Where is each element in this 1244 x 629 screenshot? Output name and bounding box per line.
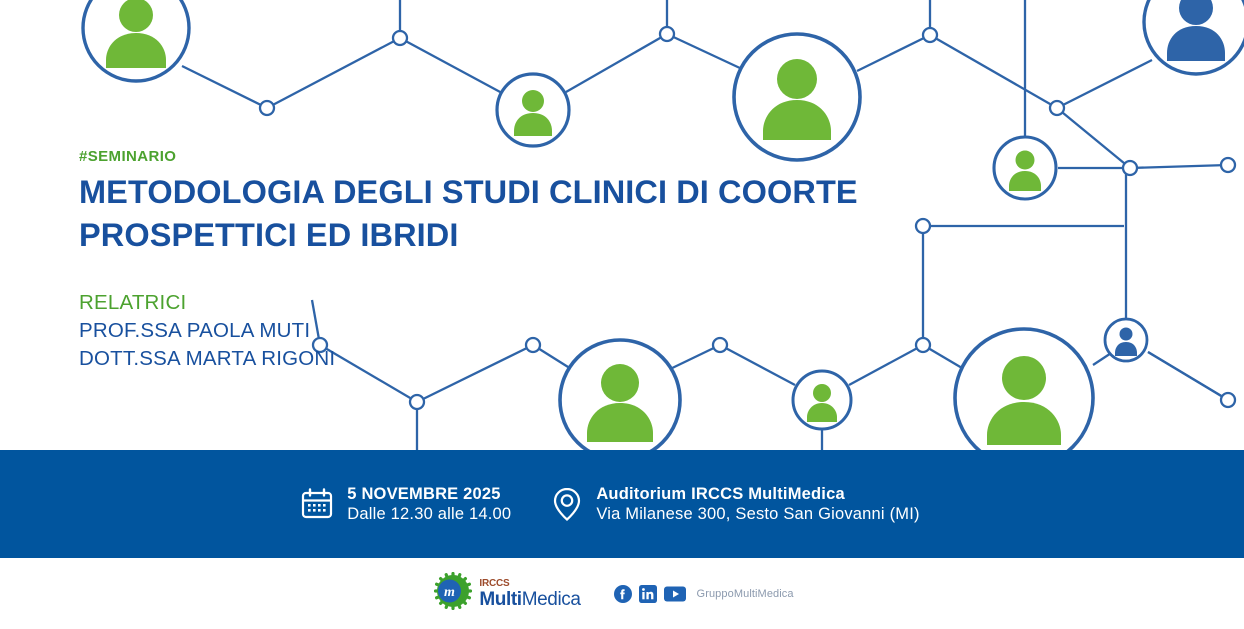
avatar-node-blue [1105,319,1147,361]
speakers-label: RELATRICI [79,289,979,317]
event-date-item: 5 NOVEMBRE 2025 Dalle 12.30 alle 14.00 [300,484,511,524]
event-location-text: Auditorium IRCCS MultiMedica Via Milanes… [596,484,919,524]
svg-text:m: m [444,585,455,600]
multimedica-logo-mark: m [434,572,472,615]
network-node [260,101,274,115]
calendar-icon [300,487,334,521]
poster-text-block: #SEMINARIO METODOLOGIA DEGLI STUDI CLINI… [79,148,979,374]
hashtag-label: #SEMINARIO [79,148,979,165]
title-line-1: METODOLOGIA DEGLI STUDI CLINICI DI COORT… [79,174,858,210]
event-location-primary: Auditorium IRCCS MultiMedica [596,484,919,504]
event-date-text: 5 NOVEMBRE 2025 Dalle 12.30 alle 14.00 [347,484,511,524]
avatar-node-green [497,74,569,146]
social-handle: GruppoMultiMedica [697,588,794,600]
speaker-name: PROF.SSA PAOLA MUTI [79,317,979,345]
logo-brand-name-bold: Multi [479,589,521,610]
title-line-2: PROSPETTICI ED IBRIDI [79,217,459,253]
avatar-node-green [734,34,860,160]
multimedica-logo: m IRCCS MultiMedica [434,572,580,615]
facebook-icon[interactable] [614,585,632,603]
avatar-node-green [83,0,189,81]
network-node [1221,158,1235,172]
avatar-node-blue [1144,0,1244,74]
logo-brand-name-light: Medica [522,589,581,610]
event-info-bar: 5 NOVEMBRE 2025 Dalle 12.30 alle 14.00 A… [0,450,1244,558]
network-node [923,28,937,42]
event-location-item: Auditorium IRCCS MultiMedica Via Milanes… [551,484,919,524]
event-date-primary: 5 NOVEMBRE 2025 [347,484,511,504]
avatar-node-green [994,137,1056,199]
logo-accreditation: IRCCS [479,579,580,589]
avatar-node-green [793,371,851,429]
social-links: GruppoMultiMedica [614,585,794,603]
seminar-poster: #SEMINARIO METODOLOGIA DEGLI STUDI CLINI… [0,0,1244,629]
youtube-icon[interactable] [664,585,686,603]
speaker-name: DOTT.SSA MARTA RIGONI [79,345,979,373]
network-node [410,395,424,409]
speakers-block: RELATRICI PROF.SSA PAOLA MUTI DOTT.SSA M… [79,289,979,374]
network-node [1050,101,1064,115]
logo-brand-name: MultiMedica [479,590,580,609]
linkedin-icon[interactable] [639,585,657,603]
network-node [660,27,674,41]
network-node [1123,161,1137,175]
network-node [1221,393,1235,407]
footer-bar: m IRCCS MultiMedica [0,558,1244,629]
event-location-secondary: Via Milanese 300, Sesto San Giovanni (MI… [596,504,919,524]
event-date-secondary: Dalle 12.30 alle 14.00 [347,504,511,524]
network-node [393,31,407,45]
multimedica-logo-text: IRCCS MultiMedica [479,579,580,609]
location-pin-icon [551,486,583,522]
page-title: METODOLOGIA DEGLI STUDI CLINICI DI COORT… [79,171,979,257]
